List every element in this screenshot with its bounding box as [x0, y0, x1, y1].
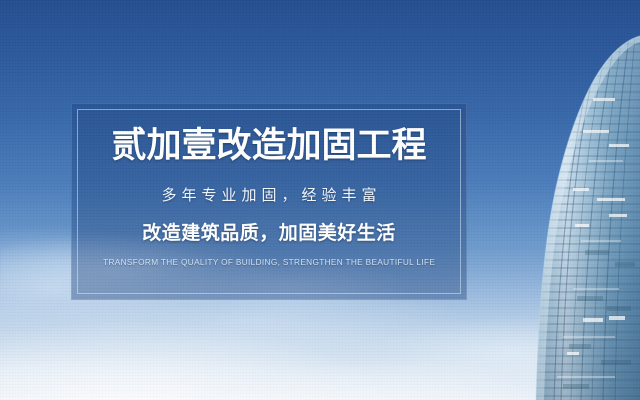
english-tagline-text: TRANSFORM THE QUALITY OF BUILDING, STREN… [103, 257, 435, 267]
panel-content: 贰加壹改造加固工程 多年专业加固，经验丰富 改造建筑品质，加固美好生活 TRAN… [71, 103, 467, 300]
subtitle-text: 多年专业加固，经验丰富 [156, 184, 381, 205]
skyscraper-building [497, 0, 640, 400]
tagline-text: 改造建筑品质，加固美好生活 [142, 218, 396, 245]
page-title: 贰加壹改造加固工程 [111, 127, 426, 164]
banner-image: 贰加壹改造加固工程 多年专业加固，经验丰富 改造建筑品质，加固美好生活 TRAN… [0, 0, 640, 400]
hero-text-panel: 贰加壹改造加固工程 多年专业加固，经验丰富 改造建筑品质，加固美好生活 TRAN… [71, 103, 467, 300]
